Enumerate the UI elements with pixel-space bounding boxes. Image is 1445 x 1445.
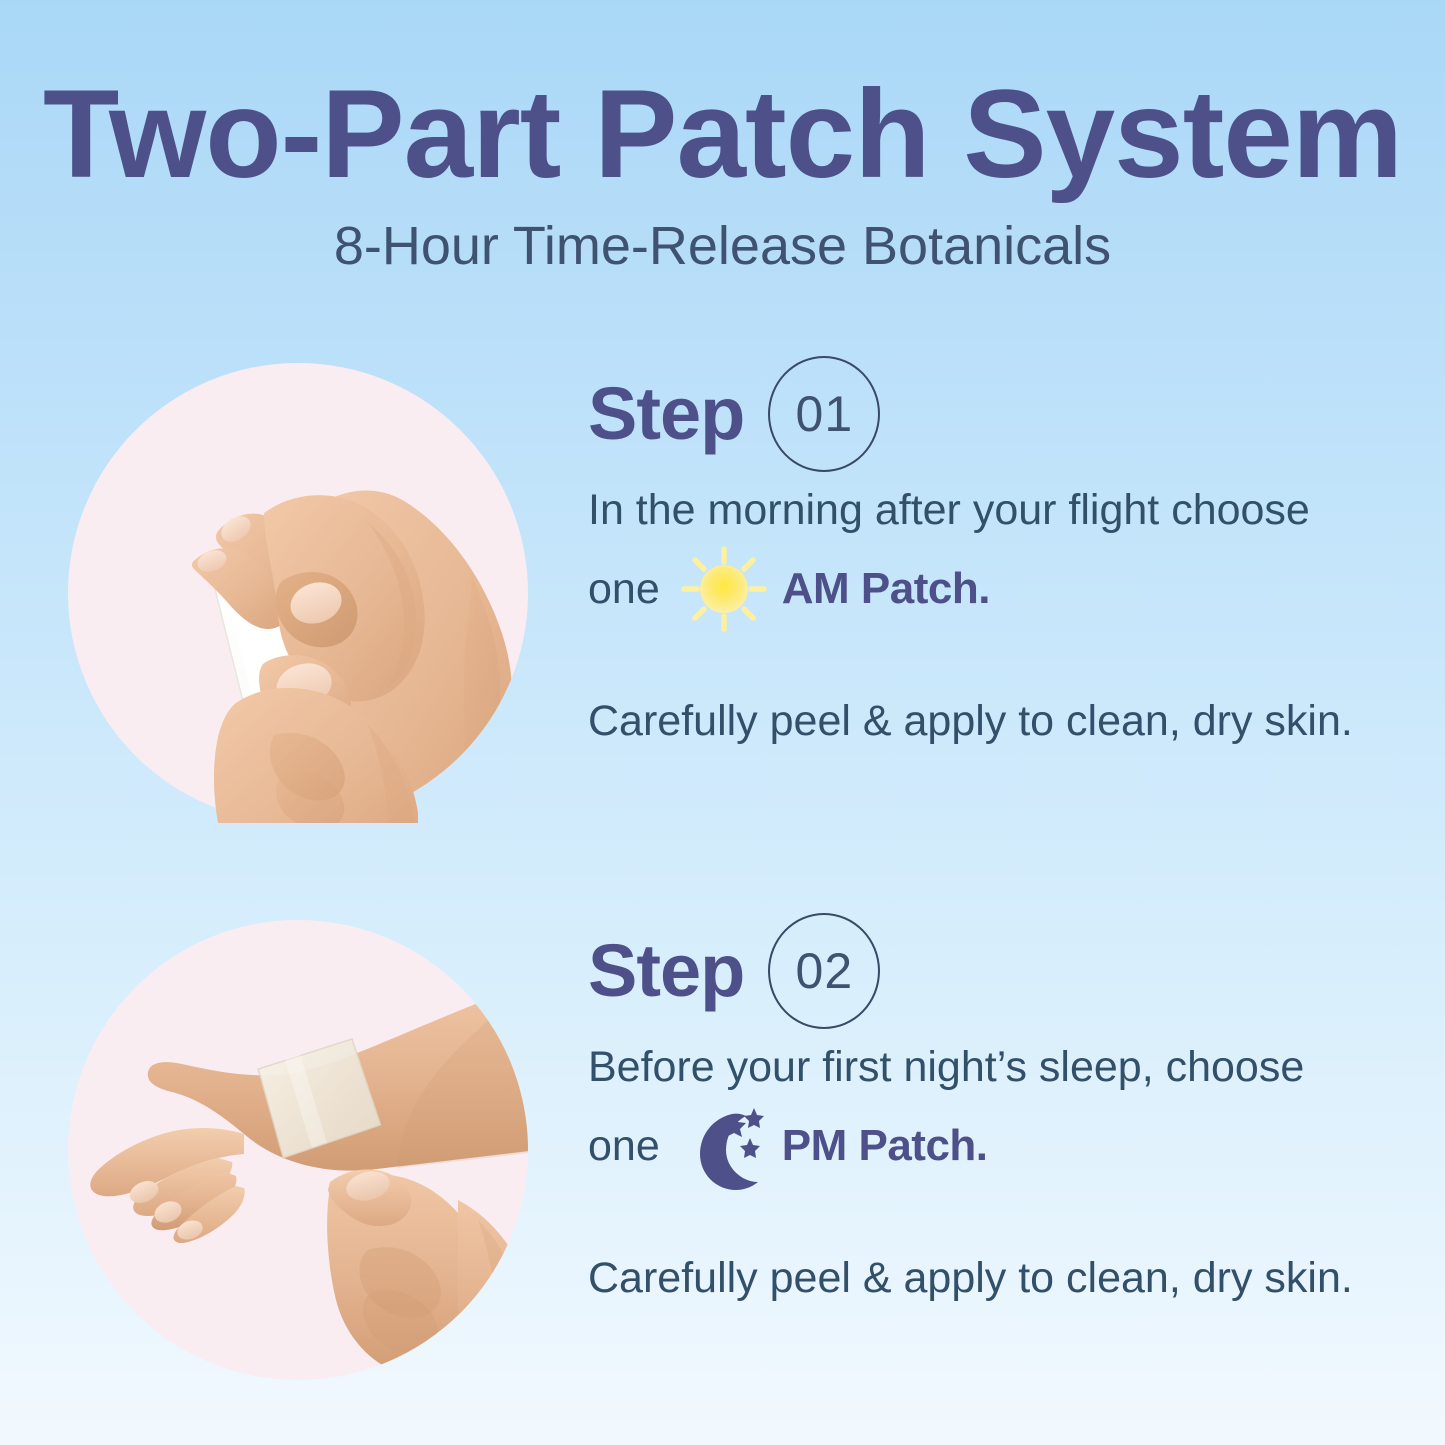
step-2-line-2: one PM Patch. [588, 1115, 1388, 1177]
infographic-root: Two-Part Patch System 8-Hour Time-Releas… [0, 0, 1445, 1445]
step-block-1: Step 01 In the morning after your flight… [0, 355, 1445, 855]
step-2-label: Step [588, 934, 744, 1008]
step-1-heading: Step 01 [588, 355, 1388, 473]
step-1-label: Step [588, 377, 744, 451]
step-1-line-1: In the morning after your flight choose [588, 489, 1388, 532]
hands-holding-patch-illustration [68, 363, 528, 823]
step-2-word-one: one [588, 1122, 660, 1171]
step-1-text: Step 01 In the morning after your flight… [588, 355, 1388, 743]
step-2-text: Step 02 Before your first night’s sleep,… [588, 912, 1388, 1300]
step-2-number-badge: 02 [768, 913, 880, 1029]
step-1-word-one: one [588, 565, 660, 614]
step-block-2: Step 02 Before your first night’s sleep,… [0, 912, 1445, 1412]
step-1-number-badge: 01 [768, 356, 880, 472]
step-2-closing-line: Carefully peel & apply to clean, dry ski… [588, 1257, 1388, 1300]
step-2-heading: Step 02 [588, 912, 1388, 1030]
page-subtitle: 8-Hour Time-Release Botanicals [0, 197, 1445, 273]
step-2-number: 02 [796, 946, 854, 996]
sun-icon [678, 543, 770, 635]
step-1-closing-line: Carefully peel & apply to clean, dry ski… [588, 700, 1388, 743]
step-1-line-2: one [588, 558, 1388, 620]
header: Two-Part Patch System 8-Hour Time-Releas… [0, 0, 1445, 273]
moon-stars-icon [678, 1100, 770, 1192]
step-2-patch-label: PM Patch. [782, 1121, 988, 1171]
page-title: Two-Part Patch System [0, 0, 1445, 197]
step-1-number: 01 [796, 389, 854, 439]
step-1-patch-label: AM Patch. [782, 564, 990, 614]
patch-applied-to-wrist-illustration [68, 920, 528, 1380]
step-2-photo [68, 920, 528, 1380]
step-1-photo [68, 363, 528, 823]
step-2-line-1: Before your first night’s sleep, choose [588, 1046, 1388, 1089]
